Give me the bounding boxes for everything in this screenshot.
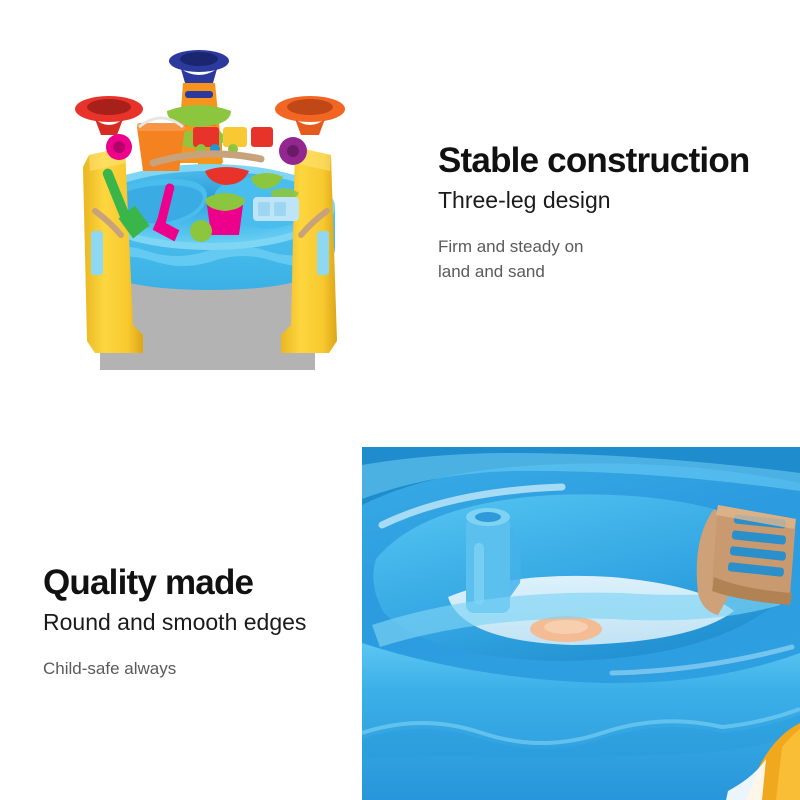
product-feature-page: Stable construction Three-leg design Fir… <box>0 0 800 800</box>
toy-gear-pink <box>106 134 132 160</box>
stable-body-line-1: Firm and steady on <box>438 234 750 259</box>
closeup-rake-tan <box>697 505 796 615</box>
toy-train-set <box>193 127 273 154</box>
toy-gear-purple <box>279 137 307 165</box>
feature-block-quality-made: Quality made Round and smooth edges Chil… <box>43 562 306 681</box>
stable-subhead: Three-leg design <box>438 184 750 216</box>
quality-headline: Quality made <box>43 562 306 604</box>
leg-window-right <box>317 231 329 275</box>
toy-ice-molds <box>253 197 299 221</box>
product-photo-basin-closeup <box>362 447 800 800</box>
quality-body: Child-safe always <box>43 656 306 681</box>
toy-wheel-green <box>190 220 212 242</box>
stable-body: Firm and steady on land and sand <box>438 234 750 284</box>
funnel-orange-right <box>275 96 345 135</box>
product-photo-water-table <box>55 35 365 385</box>
quality-body-line-1: Child-safe always <box>43 656 306 681</box>
leg-window-left <box>91 231 103 275</box>
feature-block-stable-construction: Stable construction Three-leg design Fir… <box>438 140 750 284</box>
quality-subhead: Round and smooth edges <box>43 606 306 638</box>
stable-body-line-2: land and sand <box>438 259 750 284</box>
stable-headline: Stable construction <box>438 140 750 182</box>
funnel-red-left <box>75 96 143 135</box>
